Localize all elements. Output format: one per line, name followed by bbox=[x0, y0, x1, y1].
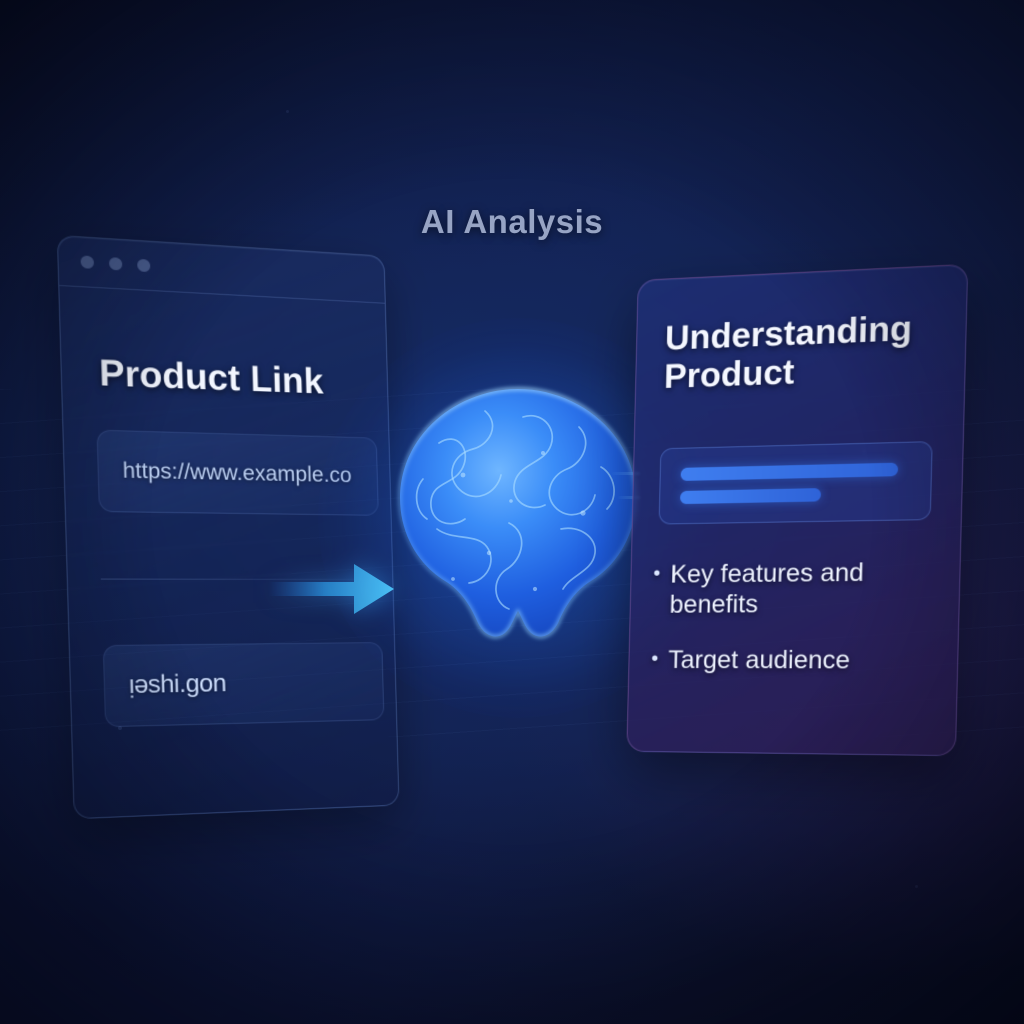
understanding-product-panel[interactable]: Understanding Product • Key features and… bbox=[626, 264, 968, 756]
understanding-product-heading: Understanding Product bbox=[664, 308, 936, 397]
background-speck bbox=[915, 885, 918, 888]
skeleton-bar bbox=[680, 488, 821, 504]
window-dot-maximize-icon[interactable] bbox=[137, 259, 150, 272]
list-item: • Target audience bbox=[651, 646, 938, 677]
page-title: AI Analysis bbox=[0, 203, 1024, 241]
url-input-value: https://www.example.co bbox=[122, 459, 352, 489]
bullet-marker-icon: • bbox=[651, 646, 659, 676]
window-controls bbox=[81, 255, 151, 272]
product-link-heading: Product Link bbox=[99, 353, 324, 403]
window-titlebar bbox=[58, 236, 385, 304]
product-link-panel[interactable]: Product Link https://www.example.co ᴉǝsh… bbox=[57, 235, 400, 820]
list-item-label: Target audience bbox=[668, 646, 851, 676]
ai-brain-icon bbox=[393, 383, 643, 645]
url-input[interactable]: https://www.example.co bbox=[96, 430, 378, 516]
insight-list: • Key features and benefits • Target aud… bbox=[650, 557, 940, 703]
panel-divider bbox=[101, 579, 361, 580]
window-dot-close-icon[interactable] bbox=[81, 255, 95, 268]
ai-analysis-illustration: AI Analysis Product Link https://www.exa… bbox=[0, 0, 1024, 1024]
window-dot-minimize-icon[interactable] bbox=[109, 257, 122, 270]
list-item-label: Key features and benefits bbox=[669, 557, 940, 619]
secondary-input-value: ᴉǝshi.gon bbox=[128, 669, 226, 700]
background-speck bbox=[286, 110, 289, 113]
summary-skeleton-card bbox=[659, 441, 933, 524]
list-item: • Key features and benefits bbox=[652, 557, 940, 619]
bullet-marker-icon: • bbox=[652, 561, 660, 620]
secondary-input[interactable]: ᴉǝshi.gon bbox=[103, 642, 385, 727]
skeleton-bar bbox=[681, 463, 898, 481]
